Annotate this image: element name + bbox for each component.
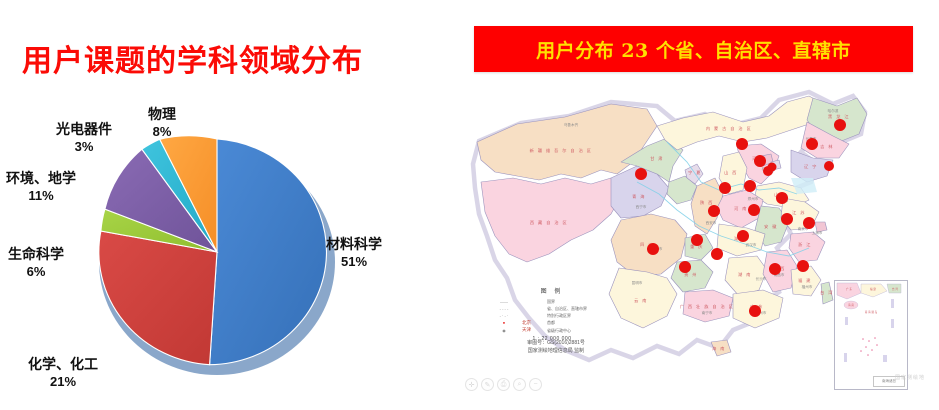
map-marker[interactable] (744, 180, 756, 192)
pie-label-life-science-name: 生命科学 (8, 247, 64, 263)
svg-text:新 疆 维 吾 尔 自 治 区: 新 疆 维 吾 尔 自 治 区 (530, 147, 593, 154)
map-credit-line1: 审图号：GS(2016)2881号 (491, 340, 621, 348)
pie-label-environment-value: 11% (6, 189, 76, 204)
draw-icon[interactable]: ✎ (481, 378, 494, 391)
svg-text:广 东: 广 东 (846, 287, 852, 291)
pie-chart (97, 124, 337, 382)
page-title: 用户课题的学科领域分布 (22, 36, 432, 80)
pie-label-optoelectronics: 光电器件 3% (56, 123, 112, 154)
pie-label-physics-name: 物理 (148, 107, 176, 123)
pie-label-materials: 材料科学 51% (326, 238, 382, 269)
svg-text:山 西: 山 西 (724, 169, 738, 176)
svg-text:安 徽: 安 徽 (764, 223, 778, 230)
map-legend-desc: 国界 (547, 299, 555, 304)
svg-text:宁 夏: 宁 夏 (688, 169, 702, 175)
pie-slide-panel: 用户课题的学科领域分布 (0, 0, 455, 410)
svg-text:广 西 壮 族 自 治 区: 广 西 壮 族 自 治 区 (680, 303, 735, 310)
svg-text:福州市: 福州市 (802, 284, 813, 289)
svg-text:青 海: 青 海 (632, 193, 646, 200)
capital-dot-icon: ● (489, 320, 519, 325)
map-marker[interactable] (776, 192, 788, 204)
map-slide-panel: 用户分布 23 个省、自治区、直辖市 (455, 0, 939, 410)
svg-text:陕 西: 陕 西 (700, 199, 714, 206)
svg-text:上海市: 上海市 (812, 230, 823, 235)
map-marker[interactable] (711, 248, 723, 260)
map-legend-row: —— 国界 (489, 299, 615, 304)
svg-text:辽 宁: 辽 宁 (804, 163, 818, 170)
svg-text:西宁市: 西宁市 (636, 204, 647, 209)
map-marker[interactable] (797, 260, 809, 272)
svg-text:浙 江: 浙 江 (798, 241, 812, 248)
china-map[interactable]: 新 疆 维 吾 尔 自 治 区 西 藏 自 治 区 青 海 甘 肃 内 蒙 古 … (461, 78, 933, 404)
map-legend-desc: 特别行政区界 (547, 313, 571, 318)
map-marker[interactable] (769, 263, 781, 275)
map-banner-label: 用户分布 23 个省、自治区、直辖市 (536, 36, 851, 63)
svg-text:昆明市: 昆明市 (632, 280, 643, 285)
svg-text:福 建: 福 建 (870, 287, 876, 291)
map-legend-name: 北京 (522, 320, 544, 326)
svg-text:南宁市: 南宁市 (702, 310, 713, 315)
svg-text:海 南: 海 南 (848, 303, 854, 307)
pan-icon[interactable]: ✛ (465, 378, 478, 391)
svg-text:甘 肃: 甘 肃 (650, 155, 664, 162)
map-marker[interactable] (824, 161, 834, 171)
map-credit-line2: 国家测绘地理信息局 监制 (491, 348, 621, 356)
minus-icon[interactable]: − (529, 378, 542, 391)
map-legend-name: 天津 (522, 327, 544, 333)
map-marker[interactable] (754, 155, 766, 167)
map-legend-symbol: —— (489, 299, 519, 304)
svg-text:哈尔滨: 哈尔滨 (828, 108, 839, 113)
svg-text:云 南: 云 南 (634, 297, 648, 304)
svg-text:河 南: 河 南 (734, 205, 748, 211)
map-watermark: 国家测绘地 (895, 374, 925, 381)
svg-text:湖 南: 湖 南 (738, 271, 752, 278)
map-marker[interactable] (834, 119, 846, 131)
pie-label-physics-value: 8% (148, 125, 176, 140)
map-legend-title: 图 例 (489, 288, 615, 296)
pie-label-environment-name: 环境、地学 (6, 171, 76, 187)
map-toolbar[interactable]: ✛ ✎ ⎙ ⌕ − (465, 378, 542, 391)
svg-text:台 湾: 台 湾 (892, 287, 898, 291)
inset-svg: 广 东福 建台 湾 海 南南 海 诸 岛 (835, 281, 905, 387)
svg-text:江 苏: 江 苏 (792, 209, 806, 216)
map-legend-desc: 省级行政中心 (547, 328, 571, 333)
map-marker[interactable] (691, 234, 703, 246)
map-legend-row: ◉ 天津 省级行政中心 (489, 327, 615, 333)
svg-text:武汉市: 武汉市 (746, 242, 757, 247)
pie-label-optoelectronics-value: 3% (56, 140, 112, 155)
map-marker[interactable] (749, 305, 761, 317)
pie-slice-chemistry[interactable] (99, 231, 217, 365)
svg-text:台 湾: 台 湾 (820, 289, 834, 296)
svg-text:内 蒙 古 自 治 区: 内 蒙 古 自 治 区 (706, 125, 752, 132)
map-marker[interactable] (635, 168, 647, 180)
map-legend-desc: 省、自治区、直辖市界 (547, 306, 587, 311)
map-marker[interactable] (806, 138, 818, 150)
zoom-icon[interactable]: ⌕ (513, 378, 526, 391)
svg-text:郑州市: 郑州市 (748, 196, 759, 201)
map-marker[interactable] (719, 182, 731, 194)
map-marker[interactable] (647, 243, 659, 255)
svg-text:南 海 诸 岛: 南 海 诸 岛 (865, 310, 878, 314)
map-legend-desc: 首都 (547, 320, 555, 325)
pie-label-chemistry: 化学、化工 21% (28, 358, 98, 389)
map-marker[interactable] (768, 163, 777, 172)
svg-text:黑 龙 江: 黑 龙 江 (828, 113, 850, 120)
map-marker[interactable] (737, 230, 749, 242)
svg-text:西 藏 自 治 区: 西 藏 自 治 区 (530, 219, 568, 226)
svg-text:福 建: 福 建 (798, 277, 812, 284)
map-marker[interactable] (679, 261, 691, 273)
svg-text:长沙市: 长沙市 (756, 276, 767, 281)
map-legend: 图 例 —— 国界 - - - - 省、自治区、直辖市界 - · - · 特别行… (489, 288, 615, 343)
pie-chart-svg (97, 124, 337, 382)
status-badge: 用户分布 23 个省、自治区、直辖市 (474, 26, 913, 72)
pie-label-chemistry-name: 化学、化工 (28, 357, 98, 373)
pie-label-physics: 物理 8% (148, 108, 176, 139)
svg-text:海 南: 海 南 (712, 345, 726, 352)
map-legend-row: - - - - 省、自治区、直辖市界 (489, 306, 615, 311)
map-legend-symbol: - - - - (489, 306, 519, 311)
pie-label-life-science-value: 6% (8, 265, 64, 280)
pie-label-life-science: 生命科学 6% (8, 248, 64, 279)
svg-text:吉 林: 吉 林 (820, 143, 834, 150)
map-legend-row: ● 北京 首都 (489, 320, 615, 326)
slide-canvas: 用户课题的学科领域分布 (0, 0, 939, 410)
map-marker[interactable] (781, 213, 793, 225)
map-marker[interactable] (736, 138, 748, 150)
province-dot-icon: ◉ (489, 328, 519, 333)
pie-label-materials-value: 51% (326, 255, 382, 270)
pie-label-materials-name: 材料科学 (326, 237, 382, 253)
map-legend-symbol: - · - · (489, 313, 519, 318)
map-credit: 审图号：GS(2016)2881号 国家测绘地理信息局 监制 (491, 340, 621, 355)
pie-label-environment: 环境、地学 11% (6, 172, 76, 203)
map-marker[interactable] (708, 205, 720, 217)
svg-text:乌鲁木齐: 乌鲁木齐 (564, 122, 579, 127)
pie-label-optoelectronics-name: 光电器件 (56, 122, 112, 138)
map-marker[interactable] (803, 217, 815, 229)
map-marker[interactable] (748, 204, 760, 216)
pie-label-chemistry-value: 21% (28, 375, 98, 390)
print-icon[interactable]: ⎙ (497, 378, 510, 391)
svg-text:西安市: 西安市 (706, 220, 717, 225)
map-legend-row: - · - · 特别行政区界 (489, 313, 615, 318)
